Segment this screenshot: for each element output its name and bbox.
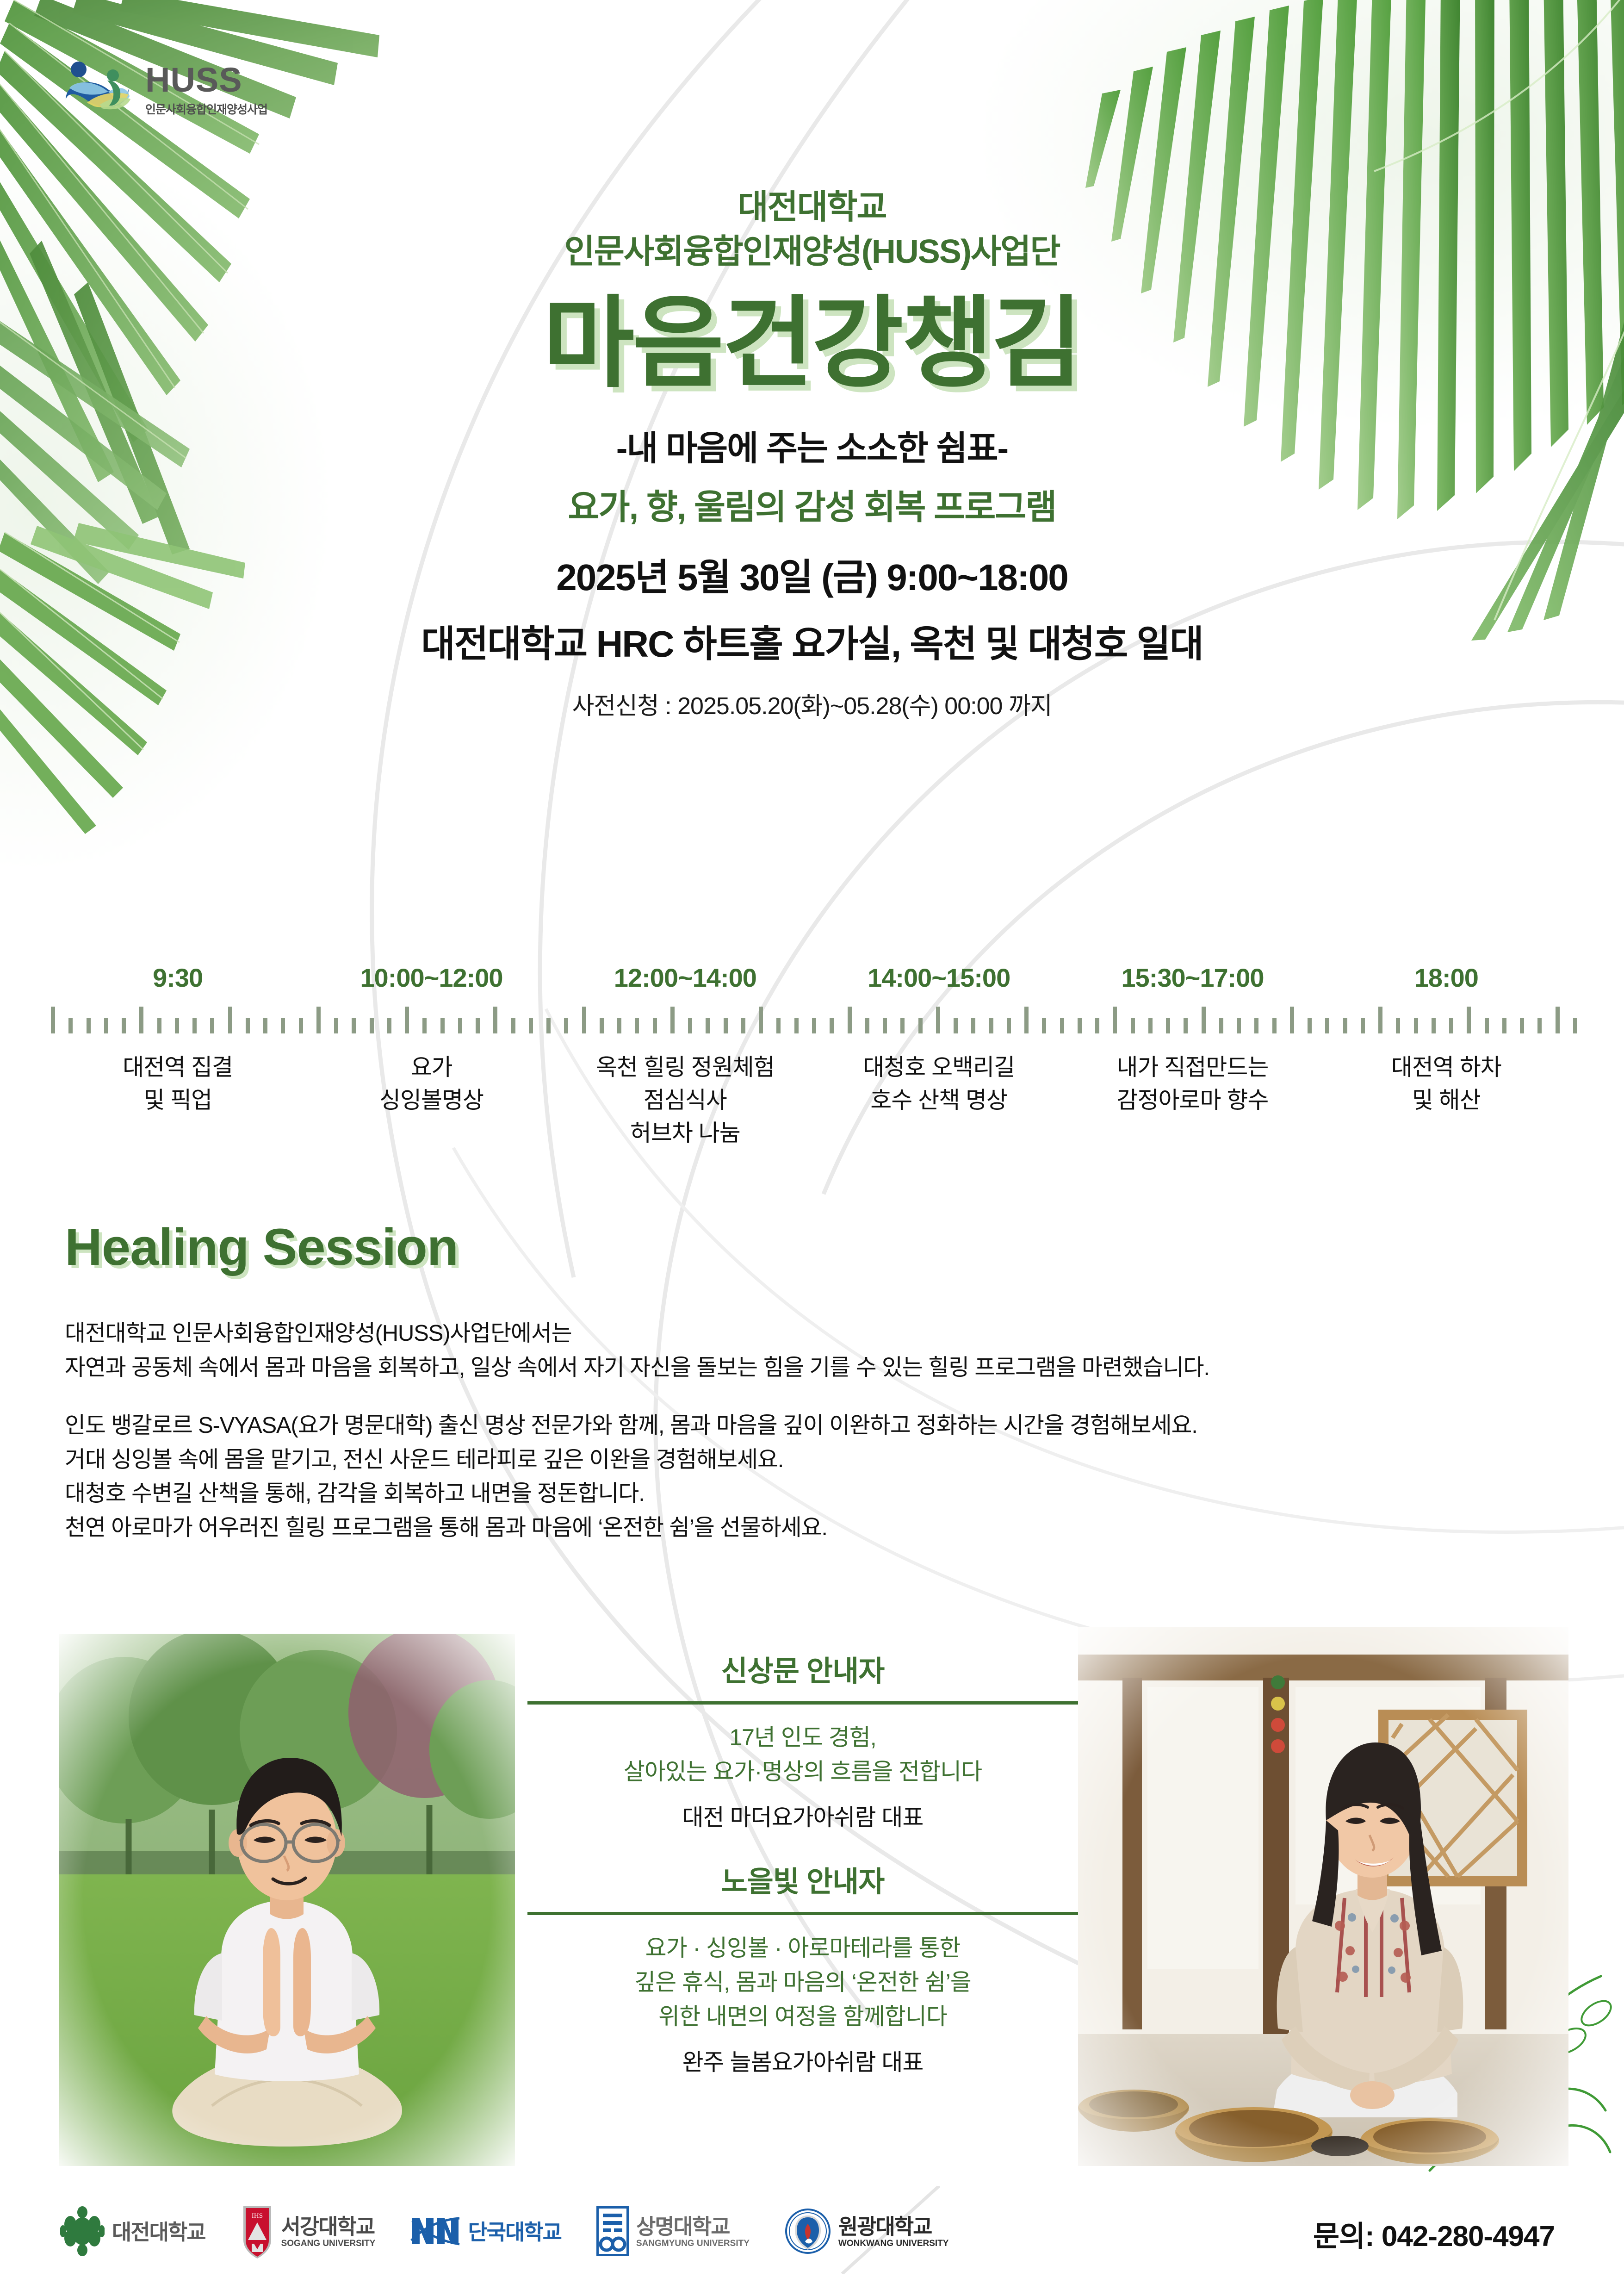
university-name-group: 원광대학교WONKWANG UNIVERSITY [838, 2215, 949, 2249]
ruler-tick-minor [1449, 1018, 1453, 1033]
ruler-tick-minor [1095, 1018, 1099, 1033]
ruler-tick-minor [246, 1018, 250, 1033]
event-datetime: 2025년 5월 30일 (금) 9:00~18:00 [0, 548, 1624, 601]
instructor-divider [527, 1912, 1078, 1915]
activity-line: 및 해산 [1320, 1084, 1573, 1117]
instructor-profiles: 신상문 안내자17년 인도 경험,살아있는 요가·명상의 흐름을 전합니다대전 … [527, 1648, 1078, 2077]
instructor-description-line: 살아있는 요가·명상의 흐름을 전합니다 [527, 1755, 1078, 1789]
university-logo-1: IHS 서강대학교SOGANG UNIVERSITY [241, 2204, 376, 2261]
body-line: 인도 뱅갈로르 S-VYASA(요가 명문대학) 출신 명상 전문가와 함께, … [65, 1409, 1559, 1443]
ruler-tick-major [51, 1007, 55, 1033]
body-line: 자연과 공동체 속에서 몸과 마음을 회복하고, 일상 속에서 자기 자신을 돌… [65, 1351, 1559, 1385]
ruler-tick-major [1024, 1007, 1029, 1033]
ruler-tick-minor [688, 1018, 692, 1033]
ruler-tick-major [316, 1007, 321, 1033]
university-name-en: SANGMYUNG UNIVERSITY [636, 2239, 750, 2249]
ruler-tick-minor [1502, 1018, 1506, 1033]
ruler-tick-minor [440, 1018, 445, 1033]
timeline-activity-2: 옥천 힐링 정원체험점심식사허브차 나눔 [558, 1051, 812, 1150]
huss-subtitle: 인문사회융합인재양성사업 [145, 100, 267, 117]
instructor-description-line: 깊은 휴식, 몸과 마음의 ‘온전한 쉼’을 [527, 1965, 1078, 1999]
activity-line: 싱잉볼명상 [304, 1084, 558, 1117]
instructor-block-0: 신상문 안내자17년 인도 경험,살아있는 요가·명상의 흐름을 전합니다대전 … [527, 1648, 1078, 1832]
university-name-en: SOGANG UNIVERSITY [281, 2239, 376, 2249]
ruler-tick-minor [1520, 1018, 1524, 1033]
activity-line: 대청호 오백리길 [812, 1051, 1066, 1084]
body-line: 천연 아로마가 어우러진 힐링 프로그램을 통해 몸과 마음에 ‘온전한 쉼’을… [65, 1511, 1559, 1545]
timeline-activity-3: 대청호 오백리길호수 산책 명상 [812, 1051, 1066, 1150]
university-name-group: 서강대학교SOGANG UNIVERSITY [281, 2215, 376, 2249]
timeline-activity-0: 대전역 집결및 픽업 [51, 1051, 304, 1150]
huss-wordmark: HUSS [145, 63, 267, 97]
ruler-tick-minor [1078, 1018, 1082, 1033]
instructor-photo-left [59, 1634, 515, 2166]
timeline-ruler [51, 1005, 1573, 1033]
university-logo-4: 원광대학교WONKWANG UNIVERSITY [785, 2208, 949, 2257]
timeline-time-4: 15:30~17:00 [1066, 963, 1319, 993]
ruler-tick-major [139, 1007, 143, 1033]
ruler-tick-minor [1308, 1018, 1312, 1033]
instructor-name: 신상문 안내자 [527, 1648, 1078, 1689]
activity-line: 감정아로마 향수 [1066, 1084, 1319, 1117]
poster-canvas: HUSS 인문사회융합인재양성사업 대전대학교 인문사회융합인재양성(HUSS)… [0, 0, 1624, 2296]
activity-line: 대전역 하차 [1320, 1051, 1573, 1084]
event-timeline: 9:3010:00~12:0012:00~14:0014:00~15:0015:… [51, 963, 1573, 1150]
body-paragraph-1: 인도 뱅갈로르 S-VYASA(요가 명문대학) 출신 명상 전문가와 함께, … [65, 1409, 1559, 1545]
activity-line: 내가 직접만드는 [1066, 1051, 1319, 1084]
dankook-univ-mark-icon [410, 2214, 460, 2251]
huss-logo: HUSS 인문사회융합인재양성사업 [59, 60, 267, 119]
ruler-tick-minor [883, 1018, 887, 1033]
timeline-time-1: 10:00~12:00 [304, 963, 558, 993]
ruler-tick-major [582, 1007, 586, 1033]
instructor-block-1: 노을빛 안내자요가 · 싱잉볼 · 아로마테라를 통한깊은 휴식, 몸과 마음의… [527, 1858, 1078, 2077]
timeline-time-5: 18:00 [1320, 963, 1573, 993]
timeline-time-3: 14:00~15:00 [812, 963, 1066, 993]
ruler-tick-minor [1060, 1018, 1064, 1033]
ruler-tick-minor [422, 1018, 427, 1033]
ruler-tick-minor [794, 1018, 799, 1033]
body-line: 대전대학교 인문사회융합인재양성(HUSS)사업단에서는 [65, 1317, 1559, 1351]
ruler-tick-minor [989, 1018, 993, 1033]
instructor-divider [527, 1701, 1078, 1705]
ruler-tick-major [1202, 1007, 1206, 1033]
page-title: 마음건강챙김 [0, 291, 1624, 396]
tagline-primary: -내 마음에 주는 소소한 쉼표- [0, 421, 1624, 470]
ruler-tick-minor [546, 1018, 551, 1033]
university-name-kr: 단국대학교 [468, 2221, 561, 2243]
ruler-tick-major [1467, 1007, 1471, 1033]
ruler-tick-minor [971, 1018, 975, 1033]
organization-line-1: 대전대학교 [0, 185, 1624, 230]
ruler-tick-minor [900, 1018, 905, 1033]
activity-line: 점심식사 [558, 1084, 812, 1117]
ruler-tick-minor [263, 1018, 267, 1033]
sogang-univ-mark-icon: IHS [241, 2204, 274, 2261]
timeline-activity-5: 대전역 하차및 해산 [1320, 1051, 1573, 1150]
body-paragraph-0: 대전대학교 인문사회융합인재양성(HUSS)사업단에서는자연과 공동체 속에서 … [65, 1317, 1559, 1385]
poster-header: 대전대학교 인문사회융합인재양성(HUSS)사업단 마음건강챙김 -내 마음에 … [0, 185, 1624, 721]
ruler-tick-major [936, 1007, 940, 1033]
ruler-tick-minor [1254, 1018, 1258, 1033]
partner-university-logos: 대전대학교 IHS 서강대학교SOGANG UNIVERSITY 단국대학교 [60, 2200, 948, 2265]
ruler-tick-minor [175, 1018, 179, 1033]
university-name-group: 상명대학교SANGMYUNG UNIVERSITY [636, 2215, 750, 2249]
ruler-tick-minor [476, 1018, 480, 1033]
ruler-tick-minor [776, 1018, 781, 1033]
ruler-tick-minor [653, 1018, 657, 1033]
ruler-tick-minor [334, 1018, 338, 1033]
university-name-kr: 상명대학교 [636, 2215, 750, 2238]
ruler-tick-minor [458, 1018, 462, 1033]
ruler-tick-minor [387, 1018, 391, 1033]
timeline-time-labels: 9:3010:00~12:0012:00~14:0014:00~15:0015:… [51, 963, 1573, 993]
activity-line: 및 픽업 [51, 1084, 304, 1117]
ruler-tick-minor [1148, 1018, 1153, 1033]
ruler-tick-major [228, 1007, 232, 1033]
ruler-tick-minor [511, 1018, 515, 1033]
huss-infinity-mark [59, 60, 133, 119]
tagline-secondary: 요가, 향, 울림의 감성 회복 프로그램 [0, 479, 1624, 529]
ruler-tick-minor [1184, 1018, 1188, 1033]
ruler-tick-minor [1485, 1018, 1489, 1033]
ruler-tick-minor [1537, 1018, 1542, 1033]
timeline-time-0: 9:30 [51, 963, 304, 993]
ruler-tick-major [670, 1007, 675, 1033]
ruler-tick-minor [299, 1018, 303, 1033]
ruler-tick-major [1378, 1007, 1382, 1033]
ruler-tick-minor [1361, 1018, 1365, 1033]
ruler-tick-minor [1573, 1018, 1577, 1033]
ruler-tick-minor [1272, 1018, 1277, 1033]
ruler-tick-minor [1007, 1018, 1011, 1033]
ruler-tick-minor [122, 1018, 126, 1033]
ruler-tick-minor [1237, 1018, 1241, 1033]
ruler-tick-minor [1131, 1018, 1135, 1033]
ruler-tick-minor [865, 1018, 869, 1033]
timeline-activities: 대전역 집결및 픽업요가싱잉볼명상옥천 힐링 정원체험점심식사허브차 나눔대청호… [51, 1051, 1573, 1150]
ruler-tick-minor [741, 1018, 745, 1033]
ruler-tick-minor [1325, 1018, 1329, 1033]
timeline-time-2: 12:00~14:00 [558, 963, 812, 993]
ruler-tick-minor [68, 1018, 73, 1033]
ruler-tick-minor [1343, 1018, 1347, 1033]
university-name-en: WONKWANG UNIVERSITY [838, 2239, 949, 2249]
instructor-name: 노을빛 안내자 [527, 1858, 1078, 1900]
ruler-tick-minor [918, 1018, 923, 1033]
university-logo-0: 대전대학교 [60, 2206, 205, 2259]
ruler-tick-minor [830, 1018, 834, 1033]
timeline-activity-4: 내가 직접만드는감정아로마 향수 [1066, 1051, 1319, 1150]
university-name-kr: 서강대학교 [281, 2215, 376, 2238]
ruler-tick-minor [352, 1018, 356, 1033]
healing-session-heading: Healing Session [65, 1217, 458, 1277]
ruler-tick-minor [1219, 1018, 1223, 1033]
event-venue: 대전대학교 HRC 하트홀 요가실, 옥천 및 대청호 일대 [0, 614, 1624, 668]
ruler-tick-minor [1166, 1018, 1170, 1033]
ruler-tick-major [1113, 1007, 1117, 1033]
timeline-activity-1: 요가싱잉볼명상 [304, 1051, 558, 1150]
ruler-tick-minor [210, 1018, 214, 1033]
ruler-tick-minor [564, 1018, 568, 1033]
activity-line: 허브차 나눔 [558, 1117, 812, 1150]
ruler-tick-minor [370, 1018, 374, 1033]
activity-line: 대전역 집결 [51, 1051, 304, 1084]
university-name-group: 대전대학교 [112, 2221, 205, 2243]
ruler-tick-minor [281, 1018, 285, 1033]
ruler-tick-major [493, 1007, 497, 1033]
activity-line: 요가 [304, 1051, 558, 1084]
ruler-tick-minor [1414, 1018, 1418, 1033]
instructor-description-line: 위한 내면의 여정을 함께합니다 [527, 1999, 1078, 2034]
instructor-description-line: 17년 인도 경험, [527, 1720, 1078, 1755]
university-name-kr: 원광대학교 [838, 2215, 949, 2238]
preregistration-notice: 사전신청 : 2025.05.20(화)~05.28(수) 00:00 까지 [0, 686, 1624, 721]
body-line: 대청호 수변길 산책을 통해, 감각을 회복하고 내면을 정돈합니다. [65, 1477, 1559, 1511]
university-name-group: 단국대학교 [468, 2221, 561, 2243]
ruler-tick-major [759, 1007, 763, 1033]
wonkwang-univ-mark-icon [785, 2208, 831, 2257]
ruler-tick-minor [87, 1018, 91, 1033]
university-logo-2: 단국대학교 [410, 2214, 561, 2251]
ruler-tick-minor [812, 1018, 816, 1033]
daejeon-univ-mark-icon [60, 2206, 105, 2259]
university-logo-3: 상명대학교SANGMYUNG UNIVERSITY [596, 2206, 750, 2259]
ruler-tick-major [1290, 1007, 1294, 1033]
ruler-tick-minor [600, 1018, 604, 1033]
ruler-tick-minor [104, 1018, 108, 1033]
ruler-tick-minor [1396, 1018, 1400, 1033]
ruler-tick-minor [954, 1018, 958, 1033]
ruler-tick-minor [1042, 1018, 1046, 1033]
activity-line: 옥천 힐링 정원체험 [558, 1051, 812, 1084]
ruler-tick-minor [706, 1018, 710, 1033]
ruler-tick-minor [192, 1018, 197, 1033]
ruler-tick-minor [724, 1018, 728, 1033]
svg-text:IHS: IHS [252, 2212, 263, 2220]
ruler-tick-minor [1432, 1018, 1436, 1033]
instructor-photo-right [1078, 1627, 1568, 2166]
ruler-tick-major [405, 1007, 409, 1033]
sangmyung-univ-mark-icon [596, 2206, 629, 2259]
activity-line: 호수 산책 명상 [812, 1084, 1066, 1117]
ruler-tick-minor [635, 1018, 639, 1033]
body-line: 거대 싱잉볼 속에 몸을 맡기고, 전신 사운드 테라피로 깊은 이완을 경험해… [65, 1443, 1559, 1477]
contact-info: 문의: 042-280-4947 [1313, 2213, 1555, 2254]
ruler-tick-major [1556, 1007, 1560, 1033]
ruler-tick-major [848, 1007, 852, 1033]
organization-line-2: 인문사회융합인재양성(HUSS)사업단 [0, 230, 1624, 274]
poster-footer: 대전대학교 IHS 서강대학교SOGANG UNIVERSITY 단국대학교 [0, 2200, 1624, 2265]
ruler-tick-minor [617, 1018, 621, 1033]
instructor-description-line: 요가 · 싱잉볼 · 아로마테라를 통한 [527, 1931, 1078, 1965]
university-name-kr: 대전대학교 [112, 2221, 205, 2243]
ruler-tick-minor [529, 1018, 533, 1033]
instructor-role: 완주 늘봄요가아쉬람 대표 [527, 2044, 1078, 2077]
healing-session-body: 대전대학교 인문사회융합인재양성(HUSS)사업단에서는자연과 공동체 속에서 … [65, 1317, 1559, 1545]
ruler-tick-minor [157, 1018, 161, 1033]
instructor-role: 대전 마더요가아쉬람 대표 [527, 1799, 1078, 1832]
